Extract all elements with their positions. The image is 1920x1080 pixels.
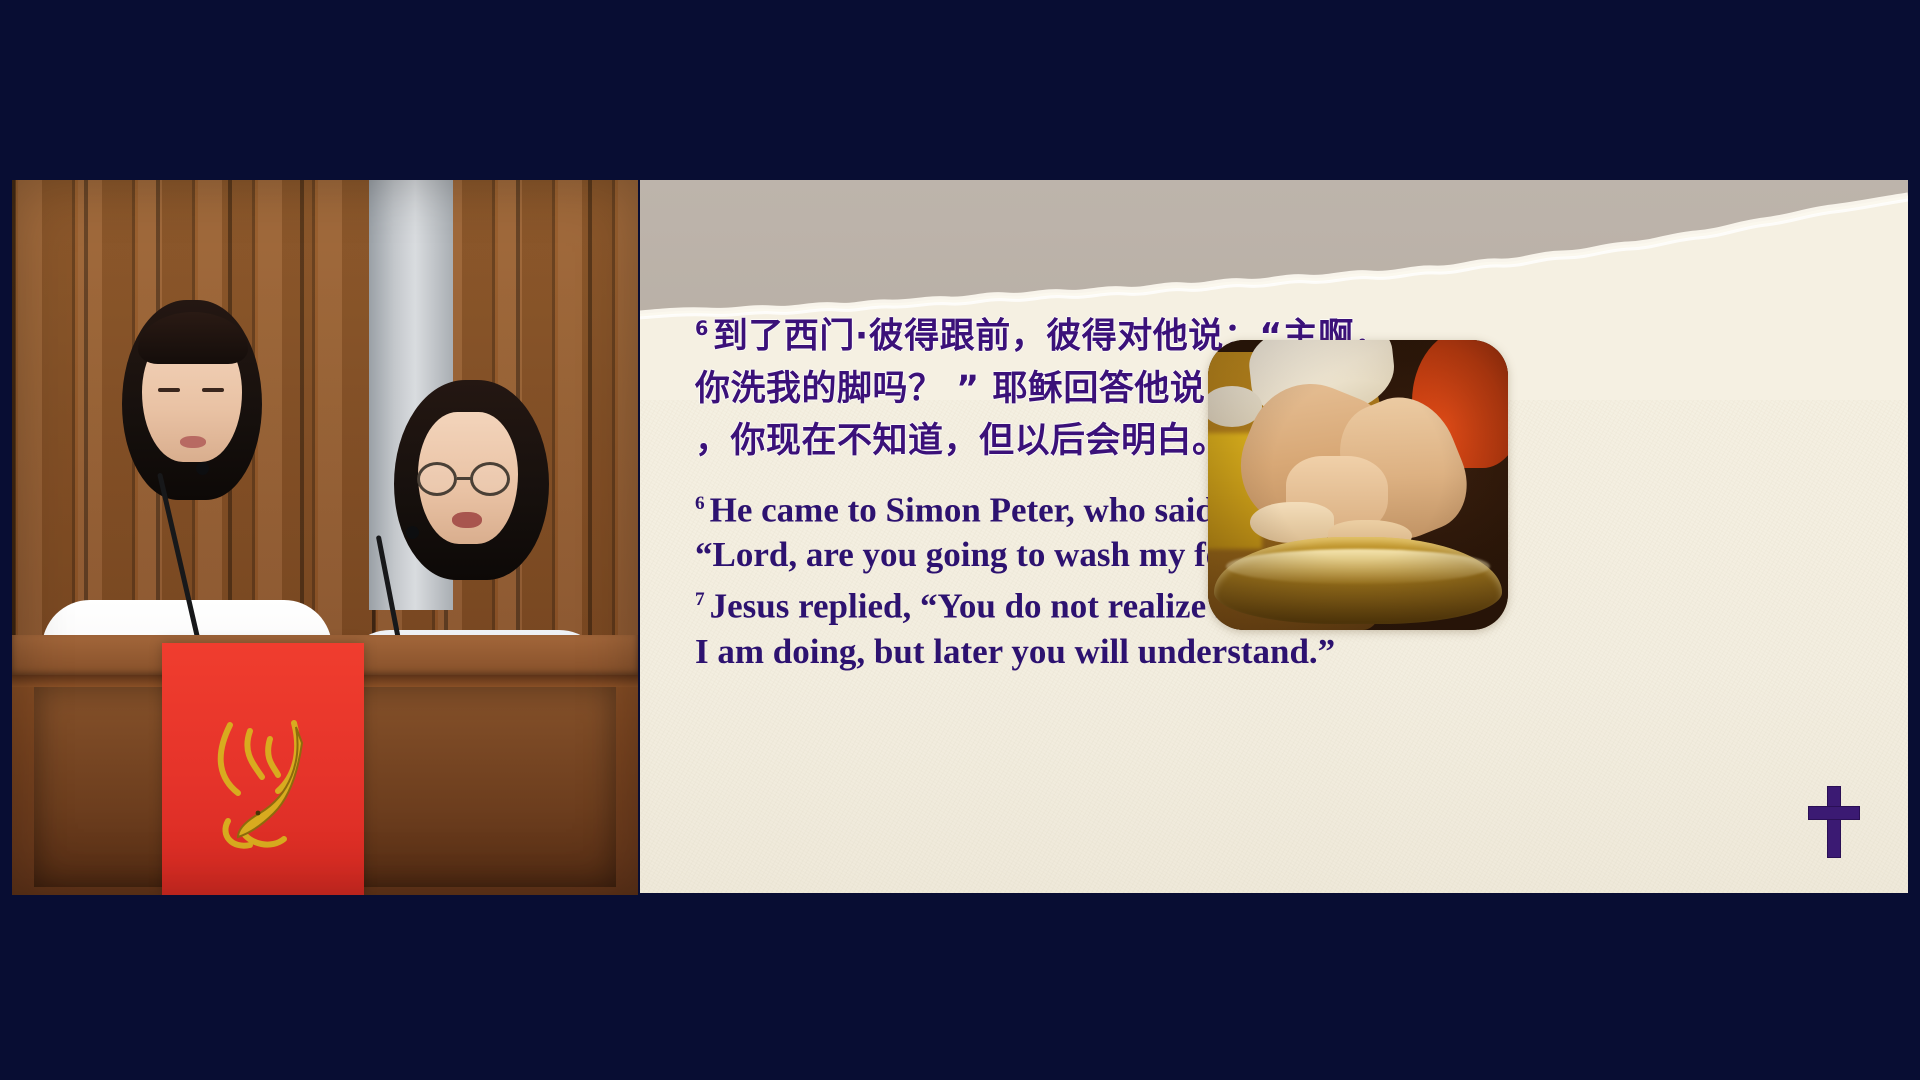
verse-number-en-7: 7 — [695, 589, 705, 610]
cross-vertical-bar — [1827, 786, 1841, 858]
livestream-video-panel[interactable] — [12, 180, 638, 895]
christian-cross-icon — [1808, 786, 1860, 858]
pulpit-banner — [162, 643, 364, 895]
cross-horizontal-bar — [1808, 806, 1860, 820]
pulpit — [12, 635, 638, 895]
scripture-slide-panel[interactable]: 6到了西门·彼得跟前，彼得对他说：“主啊， 你洗我的脚吗？ ” 耶稣回答他说：“… — [640, 180, 1908, 893]
speaker-right-glasses-bridge — [457, 477, 471, 480]
speaker-left-eye-left — [158, 388, 180, 392]
painting-shading — [1208, 340, 1508, 630]
speaker-right-mouth — [452, 512, 482, 528]
speaker-left-eye-right — [202, 388, 224, 392]
slide-presentation-screen: 6到了西门·彼得跟前，彼得对他说：“主啊， 你洗我的脚吗？ ” 耶稣回答他说：“… — [0, 0, 1920, 1080]
verse-number-cn-6: 6 — [695, 317, 709, 340]
verse-number-en-6: 6 — [695, 493, 705, 514]
foot-washing-painting — [1208, 340, 1508, 630]
speaker-right-glasses-left — [417, 462, 457, 496]
dove-and-flames-emblem — [198, 709, 328, 859]
microphone-left-head — [196, 462, 209, 475]
microphone-right-head — [406, 526, 419, 539]
english-verse-line-2-text: “Lord, are you going to wash my feet?” — [695, 535, 1284, 574]
chinese-verse-line-3-text: ，你现在不知道，但以后会明白。 ” — [695, 421, 1264, 461]
english-verse-line-4: I am doing, but later you will understan… — [695, 629, 1835, 674]
english-verse-line-4-text: I am doing, but later you will understan… — [695, 632, 1335, 671]
speaker-right-glasses-right — [470, 462, 510, 496]
speaker-left-mouth — [180, 436, 206, 448]
